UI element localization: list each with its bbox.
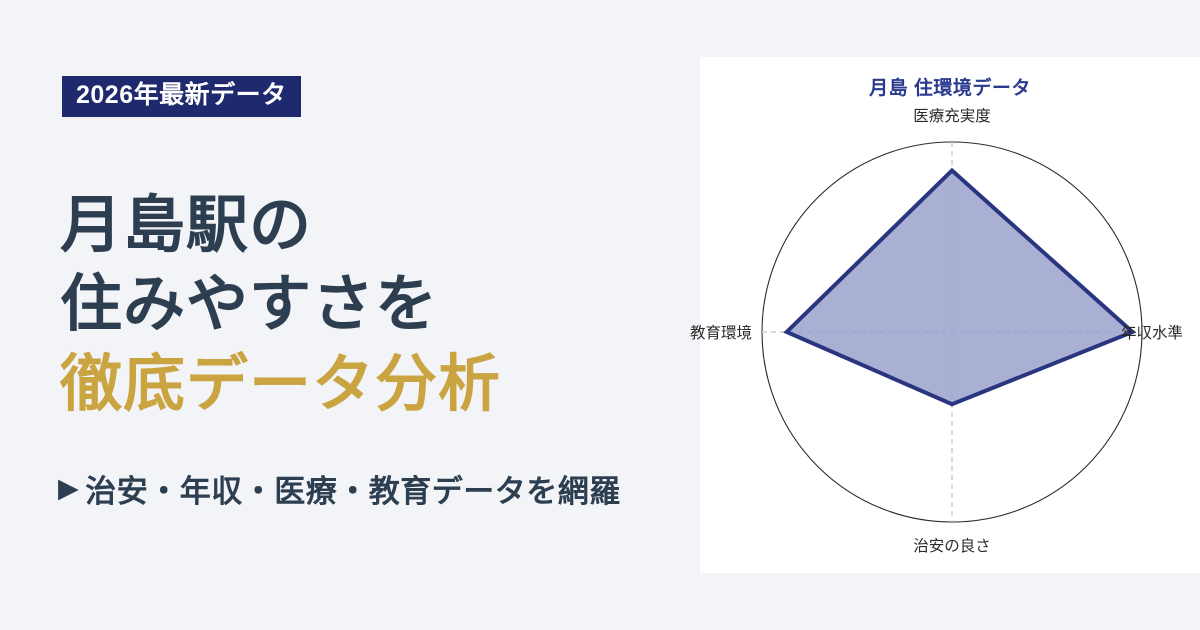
- subtitle-label: 治安・年収・医療・教育データを網羅: [85, 466, 621, 511]
- radar-chart: 医療充実度 年収水準 治安の良さ 教育環境: [700, 57, 1200, 573]
- subtitle: ▶ 治安・年収・医療・教育データを網羅: [58, 466, 621, 511]
- page-title-line-1: 月島駅の: [60, 186, 680, 265]
- radar-axis-label-bottom: 治安の良さ: [913, 537, 991, 555]
- radar-data-polygon: [787, 171, 1133, 405]
- page-title-line-3-accent: 徹底データ分析: [60, 345, 680, 424]
- page-title-line-2: 住みやすさを: [60, 265, 680, 344]
- social-card-root: { "page": { "background_color": "#f3f4f8…: [0, 0, 1200, 630]
- radar-axis-label-left: 教育環境: [690, 323, 752, 342]
- page-title: 月島駅の 住みやすさを 徹底データ分析: [60, 186, 680, 424]
- radar-axis-label-top: 医療充実度: [913, 107, 991, 125]
- chart-panel: 月島 住環境データ 医療充実度 年収水準 治安の良さ 教育環境: [700, 57, 1200, 573]
- radar-axis-label-right: 年収水準: [1121, 324, 1183, 342]
- status-badge: 2026年最新データ: [62, 76, 301, 117]
- triangle-right-icon: ▶: [58, 475, 79, 502]
- text-column: 2026年最新データ 月島駅の 住みやすさを 徹底データ分析 ▶ 治安・年収・医…: [0, 0, 700, 630]
